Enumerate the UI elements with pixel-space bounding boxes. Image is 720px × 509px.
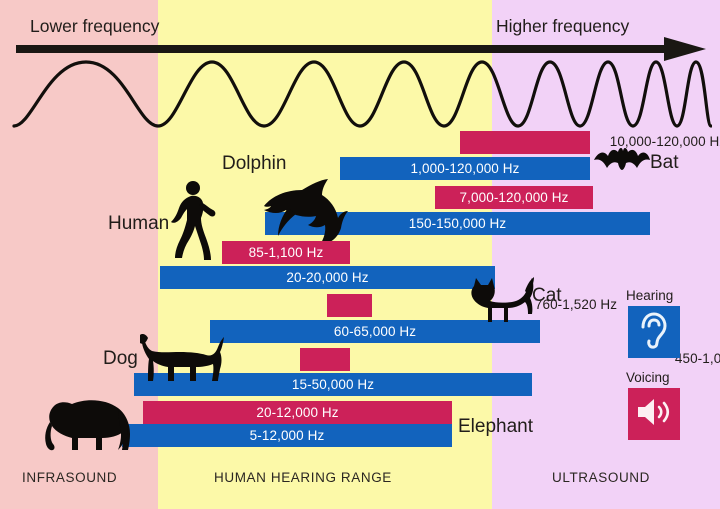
human-voicing-label: 85-1,100 Hz [222, 245, 350, 260]
infographic-canvas: Lower frequency Higher frequency 10,000-… [0, 0, 720, 509]
animal-name-dolphin: Dolphin [222, 153, 286, 175]
dolphin-voicing-bar: 7,000-120,000 Hz [435, 186, 593, 209]
footer-label-ultrasound: ULTRASOUND [552, 470, 650, 485]
dolphin-icon [258, 178, 350, 246]
legend-voicing-swatch [628, 388, 680, 440]
human-hearing-bar: 20-20,000 Hz [160, 266, 495, 289]
human-hearing-label: 20-20,000 Hz [160, 270, 495, 285]
elephant-voicing-label: 20-12,000 Hz [143, 405, 452, 420]
legend-hearing-title: Hearing [626, 288, 673, 303]
elephant-icon [42, 396, 142, 452]
elephant-hearing-label: 5-12,000 Hz [122, 428, 452, 443]
speaker-icon [636, 396, 672, 433]
bat-hearing-label: 1,000-120,000 Hz [340, 161, 590, 176]
cat-voicing-bar [327, 294, 372, 317]
animal-name-bat: Bat [650, 152, 679, 174]
animal-name-cat: Cat [532, 285, 562, 307]
footer-label-human-range: HUMAN HEARING RANGE [214, 470, 392, 485]
ear-icon [637, 311, 671, 354]
footer-label-infrasound: INFRASOUND [22, 470, 117, 485]
lower-frequency-label: Lower frequency [30, 16, 159, 37]
legend-hearing-swatch [628, 306, 680, 358]
frequency-wave-icon [12, 52, 712, 130]
dog-icon [140, 333, 224, 383]
human-runner-icon [163, 180, 217, 262]
dolphin-voicing-label: 7,000-120,000 Hz [435, 190, 593, 205]
animal-name-dog: Dog [103, 348, 138, 370]
human-voicing-bar: 85-1,100 Hz [222, 241, 350, 264]
cat-hearing-label: 60-65,000 Hz [210, 324, 540, 339]
bat-voicing-bar [460, 131, 590, 154]
animal-name-human: Human [108, 213, 169, 235]
dog-voicing-bar [300, 348, 350, 371]
higher-frequency-label: Higher frequency [496, 16, 629, 37]
bat-icon [592, 146, 652, 176]
cat-icon [466, 276, 536, 324]
legend-voicing-title: Voicing [626, 370, 670, 385]
animal-name-elephant: Elephant [458, 416, 533, 438]
elephant-hearing-bar: 5-12,000 Hz [122, 424, 452, 447]
elephant-voicing-bar: 20-12,000 Hz [143, 401, 452, 424]
bat-hearing-bar: 1,000-120,000 Hz [340, 157, 590, 180]
